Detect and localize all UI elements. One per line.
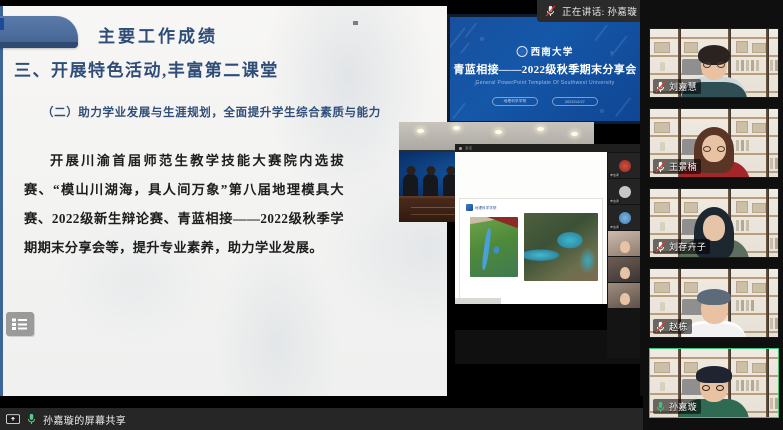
participant-name-1: 王景楠 [669, 160, 697, 173]
active-speaker-label: 正在讲话: 孙嘉璇 [562, 4, 637, 18]
microphone-muted-icon [655, 81, 666, 93]
avatar [700, 370, 728, 402]
participant-nametag-1: 王景楠 [653, 159, 701, 174]
participant-tile-0[interactable]: 刘嘉慧 [649, 28, 779, 98]
participant-name-4: 孙嘉璇 [669, 400, 697, 413]
embedded-rail-tile [608, 283, 642, 308]
participant-nametag-0: 刘嘉慧 [653, 79, 701, 94]
embedded-app-slide-logo-label: 地理科学学院 [475, 205, 497, 210]
embedded-ppt-logo: 西南大学 [517, 44, 574, 58]
embedded-ppt-subtitle: General PowerPoint Template Of Southwest… [450, 80, 640, 86]
slide-left-accent [0, 6, 3, 396]
participant-tile-2[interactable]: 刘存卉子 [649, 188, 779, 258]
participant-nametag-2: 刘存卉子 [653, 239, 710, 254]
slide-header-tab [0, 16, 78, 48]
microphone-muted-icon [655, 161, 666, 173]
avatar [701, 293, 728, 324]
microphone-muted-icon [545, 5, 556, 17]
embedded-rail-tile: 参会者 [608, 179, 642, 204]
embedded-screenshot-stack: 西南大学 青蓝相接——2022级秋季期末分享会 General PowerPoi… [447, 14, 643, 364]
speaker-bar-notch [353, 21, 358, 25]
embedded-app-titlebar-label: 会议 [465, 146, 472, 151]
participant-tile-4[interactable]: 孙嘉璇 [649, 348, 779, 418]
screen-share-icon [6, 414, 20, 425]
embedded-rail-tile [608, 231, 642, 256]
microphone-muted-icon [655, 241, 666, 253]
embedded-rail-tile: 参会者 [608, 205, 642, 230]
slide-body-text: 开展川渝首届师范生教学技能大赛院内选拔赛、“模山川湖海，具人间万象”第八届地理模… [24, 146, 344, 262]
embedded-app-image-satellite [524, 213, 598, 281]
participant-name-3: 赵栋 [669, 320, 688, 333]
participant-tile-3[interactable]: 赵栋 [649, 268, 779, 338]
embedded-ppt-title: 青蓝相接——2022级秋季期末分享会 [450, 61, 640, 77]
embedded-ppt-title-slide: 西南大学 青蓝相接——2022级秋季期末分享会 General PowerPoi… [447, 14, 643, 124]
embedded-app-participant-rail: 参会者 参会者 参会者 [607, 152, 643, 358]
microphone-icon [26, 413, 37, 425]
screen-share-status-label: 孙嘉璇的屏幕共享 [43, 412, 126, 427]
meeting-window: 主要工作成绩 三、开展特色活动,丰富第二课堂 （二）助力学业发展与生涯规划，全面… [0, 0, 783, 430]
shared-screen-slide: 主要工作成绩 三、开展特色活动,丰富第二课堂 （二）助力学业发展与生涯规划，全面… [0, 6, 447, 396]
screen-share-status-bar: 孙嘉璇的屏幕共享 [0, 408, 643, 430]
list-menu-icon[interactable] [6, 312, 34, 336]
embedded-app-slide-logo-icon [466, 204, 473, 211]
embedded-ppt-university: 西南大学 [531, 44, 574, 58]
glasses-icon [703, 146, 725, 152]
slide-top-blue-marker [0, 18, 4, 30]
embedded-app-image-terrain-model [470, 217, 518, 277]
avatar [701, 49, 727, 80]
glasses-icon [703, 62, 725, 68]
participant-name-2: 刘存卉子 [669, 240, 706, 253]
avatar [700, 131, 728, 164]
avatar [701, 211, 727, 242]
slide-section-title: 主要工作成绩 [98, 22, 218, 47]
embedded-ppt-button-0: 地理科学学院 [492, 97, 538, 106]
participant-rail: 刘嘉慧 [640, 0, 783, 430]
bottom-black-gap [0, 396, 643, 408]
glasses-icon [702, 385, 724, 391]
embedded-rail-tile: 参会者 [608, 153, 642, 178]
microphone-muted-icon [655, 321, 666, 333]
participant-name-0: 刘嘉慧 [669, 80, 697, 93]
slide-heading: 三、开展特色活动,丰富第二课堂 [14, 56, 279, 81]
participant-tile-1[interactable]: 王景楠 [649, 108, 779, 178]
slide-subheading: （二）助力学业发展与生涯规划，全面提升学生综合素质与能力 [42, 104, 381, 120]
embedded-rail-tile [608, 257, 642, 282]
embedded-ppt-button-1: 2022/12/27 [552, 97, 598, 106]
embedded-meeting-window: 会议 地理科学学院 参会者 [455, 144, 643, 364]
microphone-icon [655, 401, 666, 413]
embedded-app-slide: 地理科学学院 [459, 198, 603, 310]
university-seal-icon [517, 46, 528, 57]
participant-nametag-4: 孙嘉璇 [653, 399, 701, 414]
participant-nametag-3: 赵栋 [653, 319, 692, 334]
